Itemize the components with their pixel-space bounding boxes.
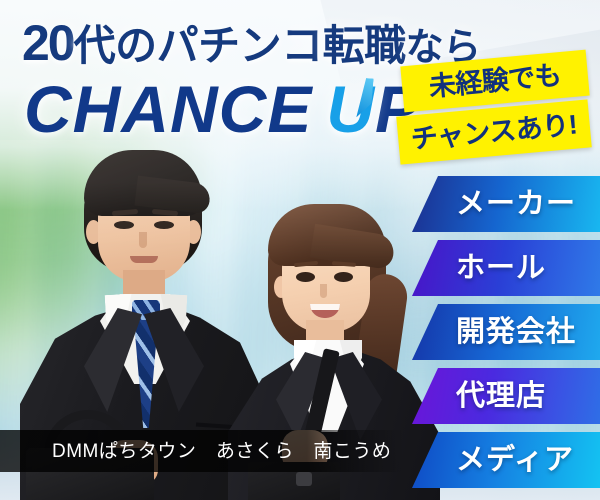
caption-text: DMMぱちタウン あさくら 南こうめ bbox=[52, 442, 391, 461]
category-bar-media[interactable]: メディア bbox=[412, 432, 600, 488]
category-label-maker: メーカー bbox=[456, 190, 576, 219]
chance-up-logo: CHANCEUP bbox=[24, 76, 420, 142]
woman-nose bbox=[320, 284, 327, 298]
category-bar-list: メーカー ホール 開発会社 代理店 メディア bbox=[412, 176, 600, 488]
category-bar-developer[interactable]: 開発会社 bbox=[412, 304, 600, 360]
woman-hair-bangs bbox=[268, 204, 386, 266]
woman-handbag-clasp bbox=[296, 472, 312, 486]
experience-badge: 未経験でも チャンスあり! bbox=[398, 56, 590, 164]
woman-teeth bbox=[310, 304, 340, 310]
man-eye-right bbox=[154, 221, 174, 229]
category-label-agency: 代理店 bbox=[456, 382, 546, 411]
category-label-media: メディア bbox=[456, 446, 574, 475]
caption-band: DMMぱちタウン あさくら 南こうめ bbox=[0, 430, 404, 472]
man-nose bbox=[139, 232, 147, 248]
woman-eye-left bbox=[296, 272, 315, 282]
logo-u-letter: U bbox=[326, 76, 375, 142]
headline-keyword: 転職 bbox=[323, 22, 406, 69]
woman-eye-right bbox=[334, 272, 353, 282]
man-eye-left bbox=[114, 221, 134, 229]
category-bar-agency[interactable]: 代理店 bbox=[412, 368, 600, 424]
headline-number: 20 bbox=[22, 15, 74, 71]
category-bar-hall[interactable]: ホール bbox=[412, 240, 600, 296]
category-label-hall: ホール bbox=[456, 254, 546, 283]
headline-middle: 代のパチンコ bbox=[74, 22, 323, 69]
logo-chance-text: CHANCE bbox=[24, 72, 312, 146]
man-hair bbox=[84, 150, 202, 216]
category-bar-maker[interactable]: メーカー bbox=[412, 176, 600, 232]
chance-up-banner: 20代のパチンコ転職なら CHANCEUP 未経験でも チャンスあり! メーカー… bbox=[0, 0, 600, 500]
category-label-developer: 開発会社 bbox=[456, 318, 576, 347]
man-mouth bbox=[130, 256, 158, 263]
